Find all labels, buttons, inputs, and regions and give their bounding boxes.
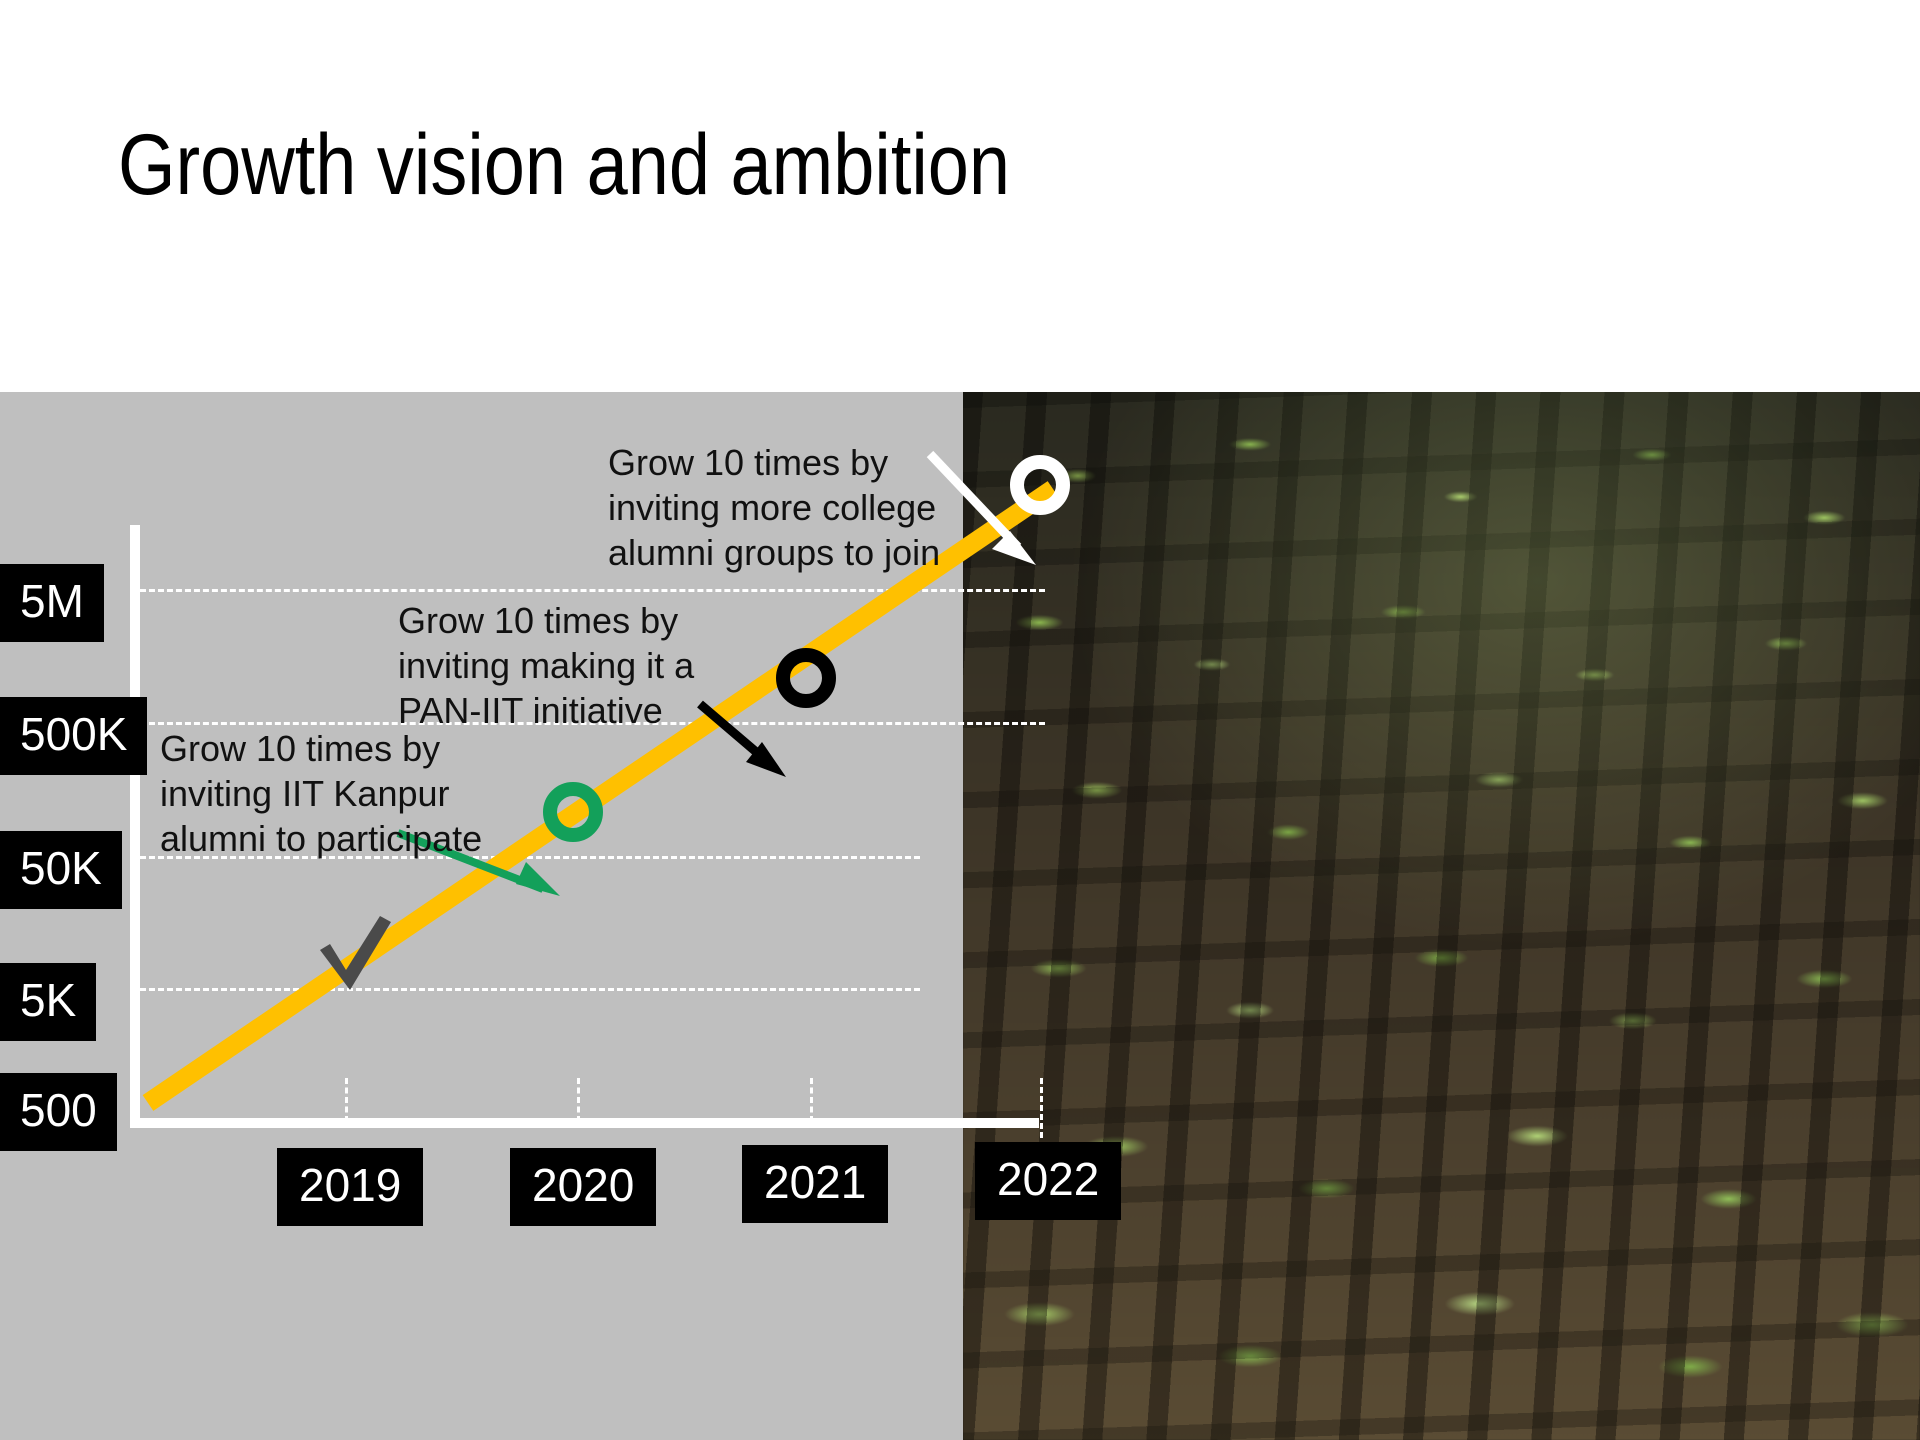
- y-axis-line: [130, 525, 140, 1126]
- nursery-photo: [963, 392, 1920, 1440]
- x-label-2021: 2021: [742, 1145, 888, 1223]
- xtick-2019: [345, 1078, 348, 1122]
- annotation-pan-iit: Grow 10 times by inviting making it a PA…: [398, 598, 694, 733]
- annotation-college-alumni: Grow 10 times by inviting more college a…: [608, 440, 940, 575]
- gridline-5k: [140, 988, 920, 991]
- slide-canvas: Growth vision and ambition: [0, 0, 1920, 1440]
- y-label-5k: 5K: [0, 963, 96, 1041]
- photo-highlight: [963, 392, 1920, 1440]
- gridline-5m: [140, 589, 1045, 592]
- y-label-500: 500: [0, 1073, 117, 1151]
- xtick-2022: [1040, 1078, 1043, 1138]
- x-axis-line: [130, 1118, 1039, 1128]
- xtick-2021: [810, 1078, 813, 1122]
- x-label-2022: 2022: [975, 1142, 1121, 1220]
- y-label-50k: 50K: [0, 831, 122, 909]
- page-title: Growth vision and ambition: [118, 122, 1010, 208]
- xtick-2020: [577, 1078, 580, 1122]
- x-label-2020: 2020: [510, 1148, 656, 1226]
- checkmark-icon: [312, 908, 398, 998]
- y-label-5m: 5M: [0, 564, 104, 642]
- annotation-iit-kanpur: Grow 10 times by inviting IIT Kanpur alu…: [160, 726, 482, 861]
- x-label-2019: 2019: [277, 1148, 423, 1226]
- y-label-500k: 500K: [0, 697, 147, 775]
